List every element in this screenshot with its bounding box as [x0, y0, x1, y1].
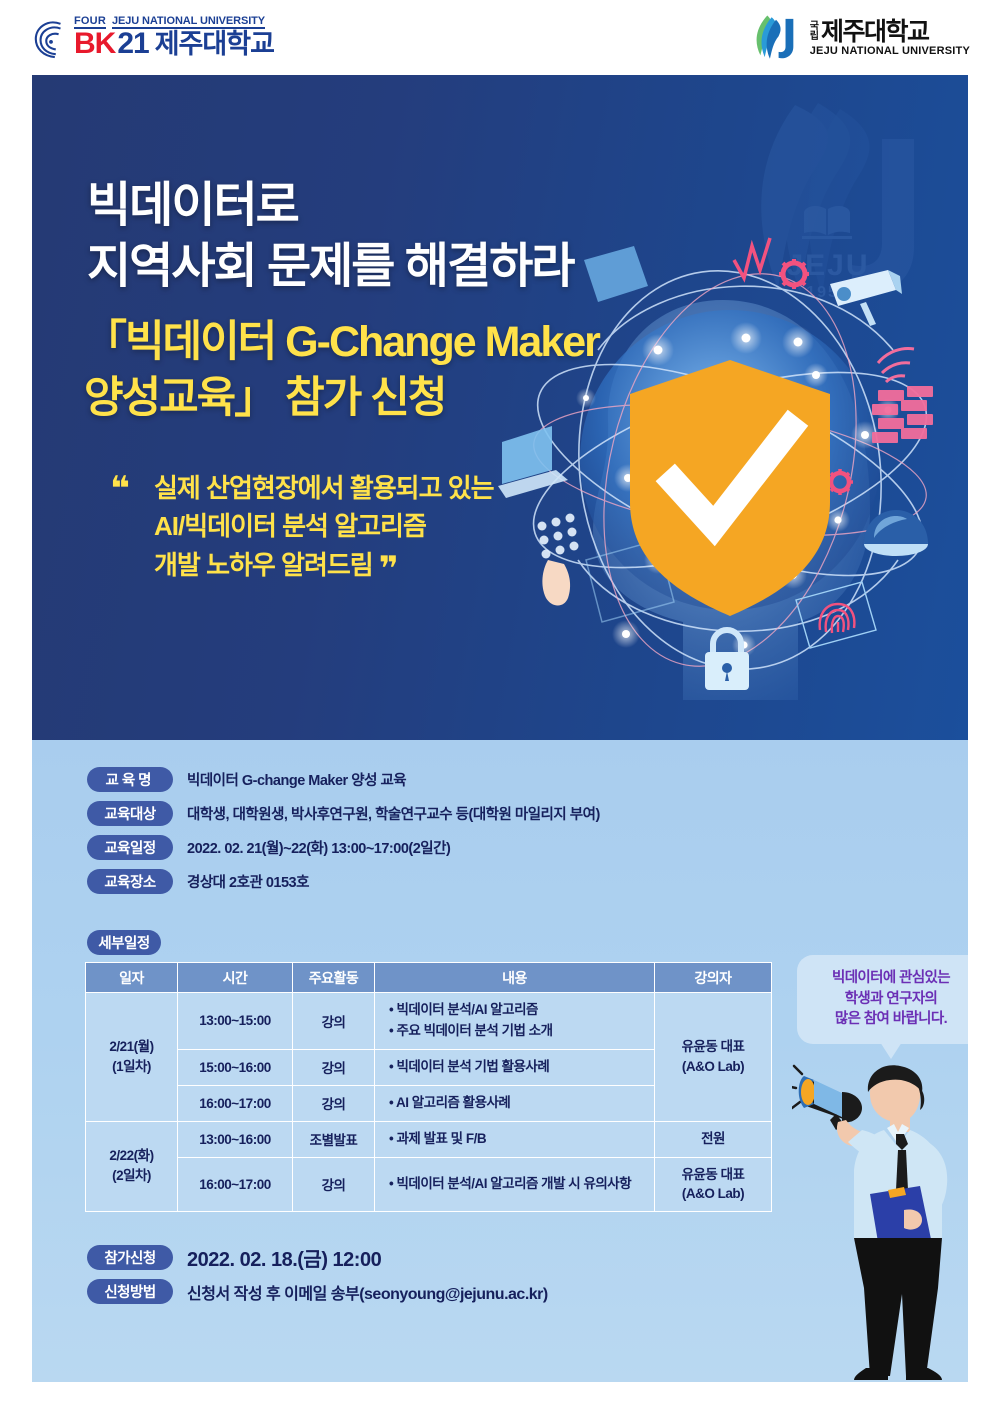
cell-time: 16:00~17:00 [178, 1157, 293, 1211]
hero-quote-line2: AI/빅데이터 분석 알고리즘 [110, 508, 494, 546]
details-panel: 교육명빅데이터 G-change Maker 양성 교육교육대상대학생, 대학원… [32, 740, 968, 1382]
jeju-national-university-logo: 국 립 제주대학교 JEJU NATIONAL UNIVERSITY [750, 12, 970, 64]
cell-lecturer: 유윤동 대표(A&O Lab) [655, 993, 772, 1122]
megaphone-icon [792, 1066, 862, 1130]
cell-time: 13:00~16:00 [178, 1121, 293, 1157]
schedule-table-head: 일자시간주요활동내용강의자 [86, 963, 772, 993]
cell-content: • 과제 발표 및 F/B [375, 1121, 655, 1157]
info-row: 교육명빅데이터 G-change Maker 양성 교육 [87, 767, 600, 792]
poster-page: FOUR JEJU NATIONAL UNIVERSITY BK 21 제주대학… [0, 0, 1000, 1414]
info-value: 대학생, 대학원생, 박사후연구원, 학술연구교수 등(대학원 마일리지 부여) [187, 803, 600, 824]
logo-bar: FOUR JEJU NATIONAL UNIVERSITY BK 21 제주대학… [0, 0, 1000, 75]
info-label-pill: 교육명 [87, 767, 173, 792]
jnu-flame-j-icon [750, 12, 802, 64]
hero-quote-line3-wrap: 개발 노하우 알려드림❞ [110, 545, 494, 594]
cell-activity: 강의 [293, 1049, 375, 1085]
jnu-gukrip-char2: 립 [810, 32, 819, 42]
info-row: 신청방법신청서 작성 후 이메일 송부(seonyoung@jejunu.ac.… [87, 1279, 548, 1304]
hero-quote-line1: 실제 산업현장에서 활용되고 있는 [110, 470, 494, 508]
info-row: 참가신청2022. 02. 18.(금) 12:00 [87, 1243, 548, 1272]
info-row: 교육대상대학생, 대학원생, 박사후연구원, 학술연구교수 등(대학원 마일리지… [87, 801, 600, 826]
info-label-pill: 참가신청 [87, 1245, 173, 1270]
jnu-gukrip-label: 국 립 [810, 22, 819, 41]
schedule-label-wrap: 세부일정 [87, 930, 161, 955]
info-row: 교육장소경상대 2호관 0153호 [87, 869, 600, 894]
info-value: 2022. 02. 18.(금) 12:00 [187, 1243, 381, 1272]
hero-subtitle: 「빅데이터 G-Change Maker 양성교육」 참가 신청 [84, 315, 599, 427]
info-label-pill: 신청방법 [87, 1279, 173, 1304]
info-value: 2022. 02. 21(월)~22(화) 13:00~17:00(2일간) [187, 837, 450, 858]
schedule-table-body: 2/21(월)(1일차)13:00~15:00강의• 빅데이터 분석/AI 알고… [86, 993, 772, 1212]
bk21-logo: FOUR JEJU NATIONAL UNIVERSITY BK 21 제주대학… [32, 16, 274, 59]
hero-title: 빅데이터로 지역사회 문제를 해결하라 [87, 175, 573, 298]
cell-lecturer: 전원 [655, 1121, 772, 1157]
hero-title-line1: 빅데이터로 [87, 175, 573, 236]
cell-content: • AI 알고리즘 활용사례 [375, 1085, 655, 1121]
cell-day: 2/22(화)(2일차) [86, 1121, 178, 1211]
schedule-table: 일자시간주요활동내용강의자 2/21(월)(1일차)13:00~15:00강의•… [85, 962, 772, 1212]
hero-text-block: 빅데이터로 지역사회 문제를 해결하라 「빅데이터 G-Change Maker… [32, 75, 968, 740]
cell-activity: 강의 [293, 993, 375, 1050]
table-row: 16:00~17:00강의• 빅데이터 분석/AI 알고리즘 개발 시 유의사항… [86, 1157, 772, 1211]
quote-close-icon: ❞ [379, 549, 398, 589]
cell-time: 13:00~15:00 [178, 993, 293, 1050]
cell-activity: 강의 [293, 1157, 375, 1211]
table-column-header: 시간 [178, 963, 293, 993]
info-value: 경상대 2호관 0153호 [187, 871, 309, 892]
jnu-name-en: JEJU NATIONAL UNIVERSITY [810, 46, 970, 58]
cell-time: 16:00~17:00 [178, 1085, 293, 1121]
hero-subtitle-line2: 양성교육」 참가 신청 [84, 371, 599, 427]
cell-content: • 빅데이터 분석 기법 활용사례 [375, 1049, 655, 1085]
quote-open-icon: ❝ [110, 472, 129, 506]
cell-content: • 빅데이터 분석/AI 알고리즘• 주요 빅데이터 분석 기법 소개 [375, 993, 655, 1050]
bubble-line1: 빅데이터에 관심있는 [805, 968, 968, 989]
hero-title-line2: 지역사회 문제를 해결하라 [87, 236, 573, 297]
bubble-line2: 학생과 연구자의 [805, 989, 968, 1010]
table-row: 2/21(월)(1일차)13:00~15:00강의• 빅데이터 분석/AI 알고… [86, 993, 772, 1050]
table-header-row: 일자시간주요활동내용강의자 [86, 963, 772, 993]
hero-subtitle-line1: 「빅데이터 G-Change Maker [84, 315, 599, 371]
hero-quote-line3: 개발 노하우 알려드림 [154, 550, 373, 580]
table-column-header: 주요활동 [293, 963, 375, 993]
cell-activity: 조별발표 [293, 1121, 375, 1157]
bk21-number-label: 21 [117, 30, 148, 59]
schedule-label: 세부일정 [87, 930, 161, 955]
cell-time: 15:00~16:00 [178, 1049, 293, 1085]
bk21-university-kr: 제주대학교 [155, 32, 274, 58]
course-info-list: 교육명빅데이터 G-change Maker 양성 교육교육대상대학생, 대학원… [87, 767, 600, 903]
table-column-header: 강의자 [655, 963, 772, 993]
bk21-bk-label: BK [74, 30, 115, 59]
table-column-header: 일자 [86, 963, 178, 993]
info-value: 신청서 작성 후 이메일 송부(seonyoung@jejunu.ac.kr) [187, 1280, 548, 1304]
info-label-pill: 교육일정 [87, 835, 173, 860]
hero-quote: ❝ 실제 산업현장에서 활용되고 있는 AI/빅데이터 분석 알고리즘 개발 노… [110, 470, 494, 595]
info-label-pill: 교육대상 [87, 801, 173, 826]
bubble-line3: 많은 참여 바랍니다. [805, 1009, 968, 1030]
info-label-pill: 교육장소 [87, 869, 173, 894]
cell-activity: 강의 [293, 1085, 375, 1121]
table-row: 2/22(화)(2일차)13:00~16:00조별발표• 과제 발표 및 F/B… [86, 1121, 772, 1157]
megaphone-man-illustration [792, 1058, 968, 1382]
speech-bubble: 빅데이터에 관심있는 학생과 연구자의 많은 참여 바랍니다. [797, 955, 968, 1044]
info-row: 교육일정2022. 02. 21(월)~22(화) 13:00~17:00(2일… [87, 835, 600, 860]
cell-lecturer: 유윤동 대표(A&O Lab) [655, 1157, 772, 1211]
brain-head-icon [32, 19, 70, 59]
cell-day: 2/21(월)(1일차) [86, 993, 178, 1122]
cell-content: • 빅데이터 분석/AI 알고리즘 개발 시 유의사항 [375, 1157, 655, 1211]
info-value: 빅데이터 G-change Maker 양성 교육 [187, 769, 406, 790]
hero-panel: JEJU 1952 [32, 75, 968, 740]
table-column-header: 내용 [375, 963, 655, 993]
application-info-list: 참가신청2022. 02. 18.(금) 12:00신청방법신청서 작성 후 이… [87, 1243, 548, 1311]
jnu-name-kr: 제주대학교 [821, 19, 929, 45]
